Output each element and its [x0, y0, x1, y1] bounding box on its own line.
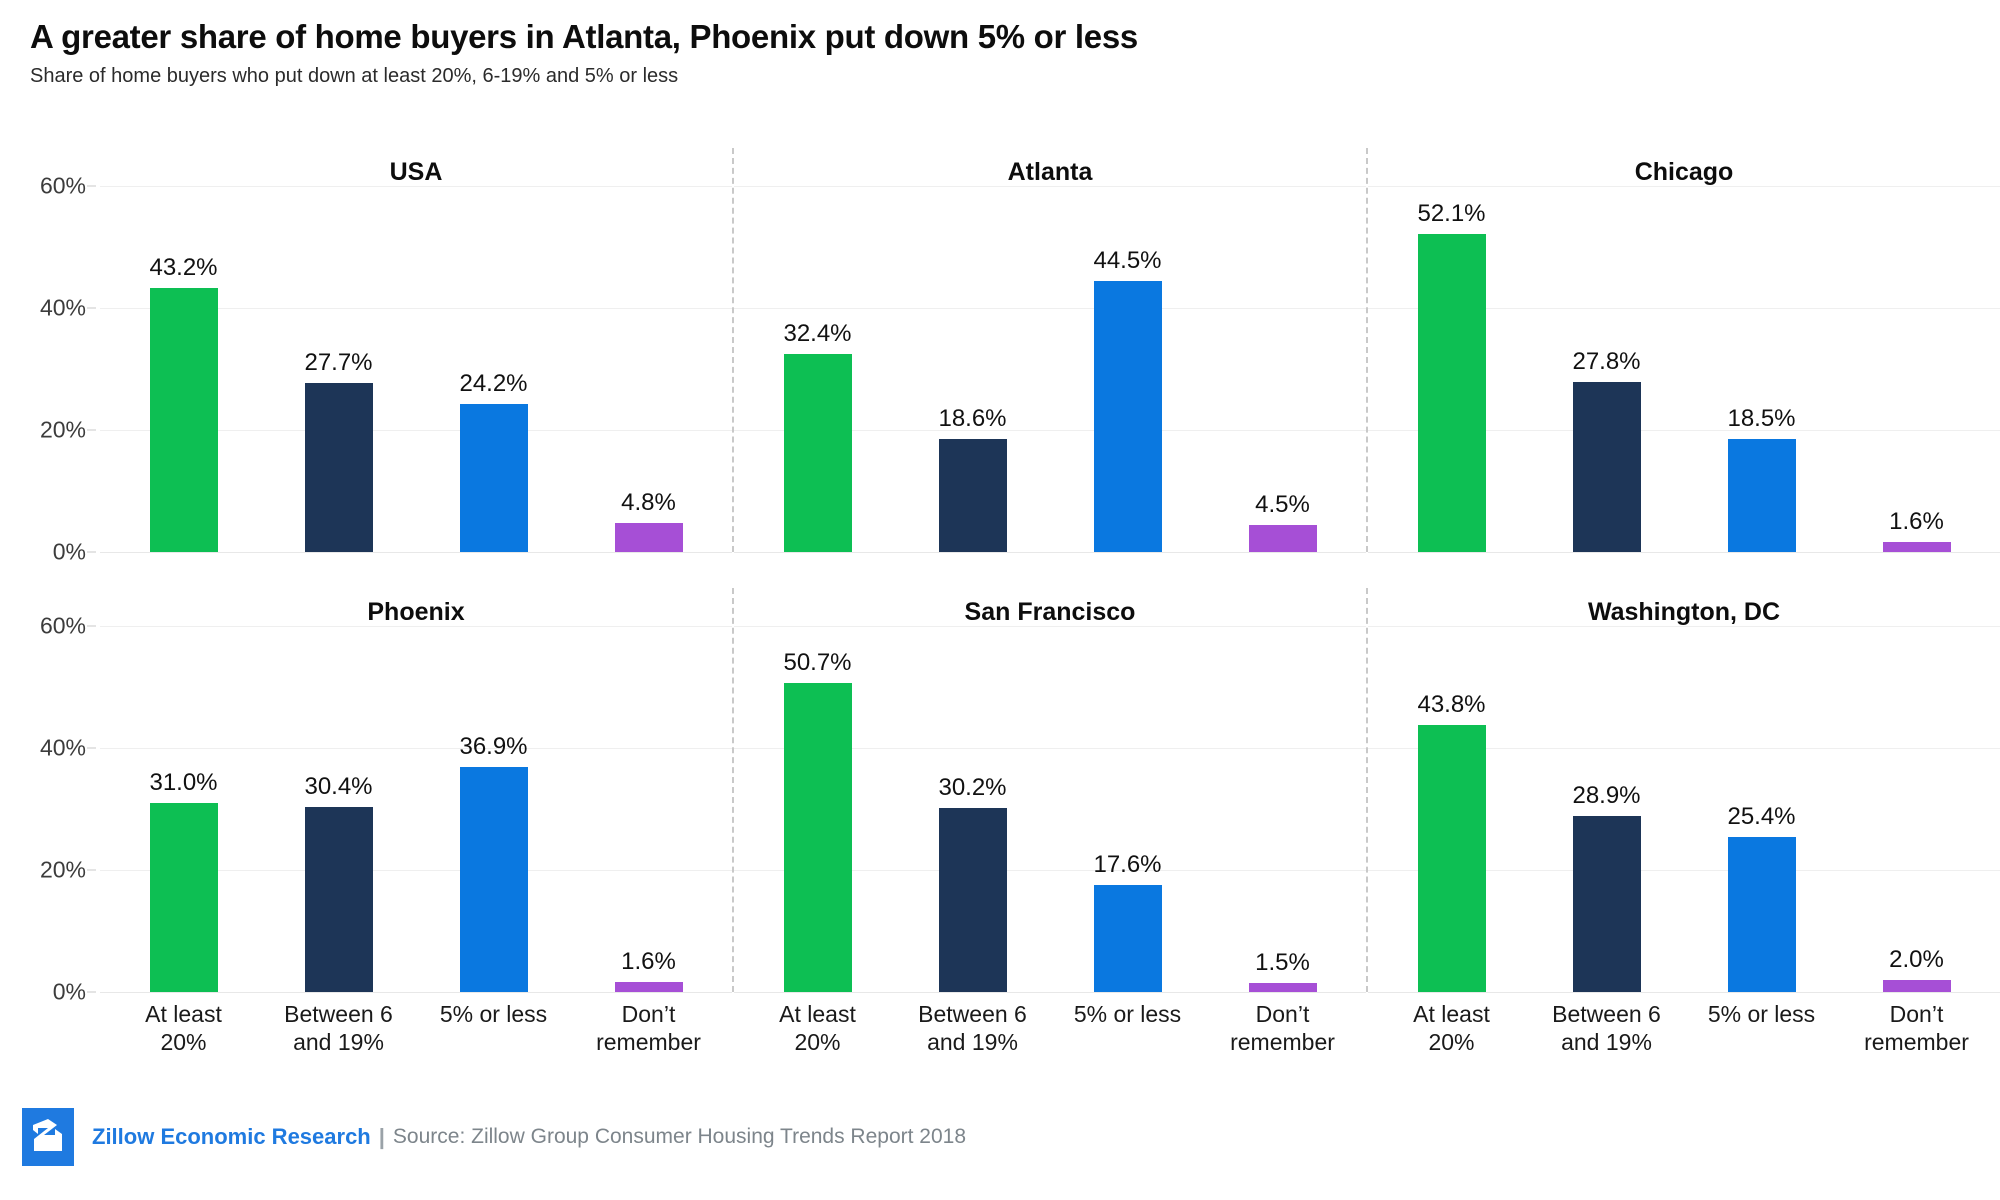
chart-header: A greater share of home buyers in Atlant…: [0, 0, 2000, 88]
zillow-z-icon: [22, 1108, 74, 1166]
plot-area: 43.8%28.9%25.4%2.0%: [1368, 588, 2000, 992]
bar-value-label: 50.7%: [740, 649, 895, 677]
bar-slot: 31.0%: [106, 588, 261, 992]
bar-value-label: 32.4%: [740, 320, 895, 348]
facet-grid: 0%20%40%60% USA43.2%27.7%24.2%4.8%Atlant…: [0, 148, 2000, 1078]
y-axis-tick-mark: [87, 748, 96, 749]
bar[interactable]: [1418, 234, 1486, 552]
facet-panel: Chicago52.1%27.8%18.5%1.6%: [1366, 148, 2000, 552]
bar-slot: 1.6%: [1839, 148, 1994, 552]
bar-value-label: 17.6%: [1050, 851, 1205, 879]
bar-slot: 4.5%: [1205, 148, 1360, 552]
bar-value-label: 27.8%: [1529, 348, 1684, 376]
facet-row-top: 0%20%40%60% USA43.2%27.7%24.2%4.8%Atlant…: [0, 148, 2000, 588]
bar[interactable]: [1249, 983, 1317, 992]
bar[interactable]: [1728, 439, 1796, 552]
bar-value-label: 4.8%: [571, 489, 726, 517]
x-axis-tick-label: 5% or less: [416, 992, 571, 1082]
bar-slot: 1.5%: [1205, 588, 1360, 992]
bar-value-label: 44.5%: [1050, 247, 1205, 275]
x-axis-tick-label: At least20%: [1374, 992, 1529, 1082]
bar-slot: 18.6%: [895, 148, 1050, 552]
facet-panel: San Francisco50.7%30.2%17.6%1.5%: [732, 588, 1366, 992]
x-axis-tick-label: At least20%: [740, 992, 895, 1082]
bar-slot: 43.8%: [1374, 588, 1529, 992]
bar-value-label: 1.6%: [571, 948, 726, 976]
footer-source: Source: Zillow Group Consumer Housing Tr…: [393, 1125, 966, 1149]
x-axis-panel: At least20%Between 6and 19%5% or lessDon…: [100, 992, 732, 1082]
chart-title: A greater share of home buyers in Atlant…: [30, 18, 1970, 56]
bar-slot: 25.4%: [1684, 588, 1839, 992]
bar-slot: 4.8%: [571, 148, 726, 552]
bar[interactable]: [1094, 885, 1162, 992]
plot-area: 43.2%27.7%24.2%4.8%: [100, 148, 732, 552]
bar-slot: 1.6%: [571, 588, 726, 992]
bar[interactable]: [1573, 382, 1641, 552]
bar-value-label: 30.4%: [261, 773, 416, 801]
y-axis-tick: 0%: [53, 979, 86, 1006]
y-axis-bottom: 0%20%40%60%: [0, 588, 100, 992]
bar[interactable]: [460, 404, 528, 552]
bar-value-label: 43.8%: [1374, 691, 1529, 719]
bar-slot: 52.1%: [1374, 148, 1529, 552]
bar[interactable]: [150, 803, 218, 992]
bar-slot: 32.4%: [740, 148, 895, 552]
x-axis-tick-label: Between 6and 19%: [261, 992, 416, 1082]
bar-value-label: 28.9%: [1529, 782, 1684, 810]
bar-slot: 24.2%: [416, 148, 571, 552]
bar-value-label: 36.9%: [416, 733, 571, 761]
bar-value-label: 2.0%: [1839, 946, 1994, 974]
x-axis-tick-label: 5% or less: [1050, 992, 1205, 1082]
x-axis-tick-label: Don’tremember: [571, 992, 726, 1082]
bar[interactable]: [939, 439, 1007, 552]
x-axis-panel: At least20%Between 6and 19%5% or lessDon…: [732, 992, 1366, 1082]
y-axis-tick-mark: [87, 552, 96, 553]
bar-slot: 2.0%: [1839, 588, 1994, 992]
facet-panel: Phoenix31.0%30.4%36.9%1.6%: [100, 588, 732, 992]
facet-panel: Atlanta32.4%18.6%44.5%4.5%: [732, 148, 1366, 552]
bar-slot: 36.9%: [416, 588, 571, 992]
bar[interactable]: [1418, 725, 1486, 992]
bar-slot: 17.6%: [1050, 588, 1205, 992]
bar[interactable]: [305, 383, 373, 552]
bar-slot: 28.9%: [1529, 588, 1684, 992]
y-axis-tick: 40%: [40, 295, 86, 322]
plot-area: 50.7%30.2%17.6%1.5%: [734, 588, 1366, 992]
panels-bottom: Phoenix31.0%30.4%36.9%1.6%San Francisco5…: [100, 588, 2000, 992]
bar-slot: 50.7%: [740, 588, 895, 992]
y-axis-tick: 20%: [40, 417, 86, 444]
bar-value-label: 25.4%: [1684, 803, 1839, 831]
bar[interactable]: [305, 807, 373, 992]
plot-area: 31.0%30.4%36.9%1.6%: [100, 588, 732, 992]
bar-slot: 43.2%: [106, 148, 261, 552]
footer-brand[interactable]: Zillow Economic Research: [92, 1124, 371, 1150]
facet-panel: USA43.2%27.7%24.2%4.8%: [100, 148, 732, 552]
y-axis-tick: 20%: [40, 857, 86, 884]
y-axis-tick-mark: [87, 308, 96, 309]
chart-footer: Zillow Economic Research | Source: Zillo…: [0, 1090, 2000, 1200]
bar-value-label: 1.5%: [1205, 949, 1360, 977]
y-axis-tick-mark: [87, 626, 96, 627]
x-axis-tick-label: 5% or less: [1684, 992, 1839, 1082]
bar-slot: 18.5%: [1684, 148, 1839, 552]
bar-value-label: 31.0%: [106, 769, 261, 797]
bar[interactable]: [1883, 980, 1951, 992]
y-axis-tick-mark: [87, 186, 96, 187]
footer-separator: |: [379, 1124, 385, 1150]
x-axis-bottom: At least20%Between 6and 19%5% or lessDon…: [100, 992, 2000, 1082]
y-axis-tick-mark: [87, 430, 96, 431]
plot-area: 32.4%18.6%44.5%4.5%: [734, 148, 1366, 552]
chart-root: A greater share of home buyers in Atlant…: [0, 0, 2000, 1200]
x-axis-tick-label: Between 6and 19%: [895, 992, 1050, 1082]
bar-slot: 27.8%: [1529, 148, 1684, 552]
bar-value-label: 1.6%: [1839, 508, 1994, 536]
x-axis-tick-label: Don’tremember: [1839, 992, 1994, 1082]
bar[interactable]: [460, 767, 528, 992]
bar-slot: 30.2%: [895, 588, 1050, 992]
x-axis-tick-label: At least20%: [106, 992, 261, 1082]
bar[interactable]: [784, 683, 852, 992]
facet-panel: Washington, DC43.8%28.9%25.4%2.0%: [1366, 588, 2000, 992]
bar[interactable]: [1249, 525, 1317, 552]
bar-value-label: 52.1%: [1374, 200, 1529, 228]
bar[interactable]: [939, 808, 1007, 992]
bar-value-label: 18.6%: [895, 405, 1050, 433]
bar-value-label: 24.2%: [416, 370, 571, 398]
bar-value-label: 4.5%: [1205, 491, 1360, 519]
bar-slot: 30.4%: [261, 588, 416, 992]
bar[interactable]: [1094, 281, 1162, 552]
bar[interactable]: [1728, 837, 1796, 992]
bar-slot: 44.5%: [1050, 148, 1205, 552]
chart-subtitle: Share of home buyers who put down at lea…: [30, 64, 1970, 88]
y-axis-top: 0%20%40%60%: [0, 148, 100, 552]
bar[interactable]: [1573, 816, 1641, 992]
panels-top: USA43.2%27.7%24.2%4.8%Atlanta32.4%18.6%4…: [100, 148, 2000, 552]
x-axis-tick-label: Don’tremember: [1205, 992, 1360, 1082]
facet-row-bottom: 0%20%40%60% Phoenix31.0%30.4%36.9%1.6%Sa…: [0, 588, 2000, 1058]
y-axis-tick: 60%: [40, 613, 86, 640]
bar[interactable]: [1883, 542, 1951, 552]
bar[interactable]: [615, 982, 683, 992]
bar-value-label: 27.7%: [261, 349, 416, 377]
bar[interactable]: [784, 354, 852, 552]
y-axis-tick: 40%: [40, 735, 86, 762]
y-axis-tick: 0%: [53, 539, 86, 566]
bar-value-label: 30.2%: [895, 774, 1050, 802]
bar-value-label: 18.5%: [1684, 405, 1839, 433]
bar[interactable]: [615, 523, 683, 552]
plot-area: 52.1%27.8%18.5%1.6%: [1368, 148, 2000, 552]
bar-slot: 27.7%: [261, 148, 416, 552]
bar[interactable]: [150, 288, 218, 552]
x-axis-panel: At least20%Between 6and 19%5% or lessDon…: [1366, 992, 2000, 1082]
y-axis-tick: 60%: [40, 173, 86, 200]
y-axis-tick-mark: [87, 870, 96, 871]
bar-value-label: 43.2%: [106, 254, 261, 282]
y-axis-tick-mark: [87, 992, 96, 993]
x-axis-tick-label: Between 6and 19%: [1529, 992, 1684, 1082]
